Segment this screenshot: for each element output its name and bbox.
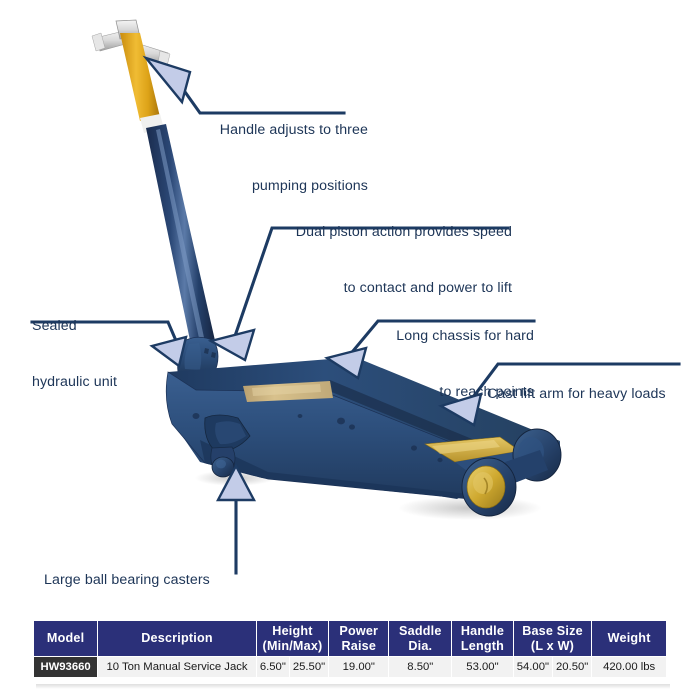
table-header: Model Description Height (Min/Max) Power…: [34, 621, 667, 657]
cell-description: 10 Ton Manual Service Jack: [98, 657, 257, 678]
cell-model: HW93660: [34, 657, 98, 678]
table-header-row-1: Model Description Height (Min/Max) Power…: [34, 621, 667, 657]
th-handle-length: Handle Length: [452, 621, 514, 657]
th-saddle-line1: Saddle: [391, 624, 449, 639]
th-handle-line1: Handle: [454, 624, 511, 639]
callout-liftarm-line1: Cast lift arm for heavy loads: [487, 385, 687, 404]
callout-handle-line1: Handle adjusts to three: [156, 121, 368, 140]
th-weight: Weight: [592, 621, 667, 657]
th-model: Model: [34, 621, 98, 657]
callout-cast-lift-arm: Cast lift arm for heavy loads: [487, 348, 687, 441]
th-base-line2: (L x W): [516, 639, 590, 654]
front-wheel-near: [462, 458, 516, 516]
table-row: HW93660 10 Ton Manual Service Jack 6.50"…: [34, 657, 667, 678]
th-description: Description: [98, 621, 257, 657]
cell-height-max: 25.50": [289, 657, 328, 678]
th-power-line2: Raise: [331, 639, 386, 654]
th-height: Height (Min/Max): [256, 621, 328, 657]
th-height-line1: Height: [259, 624, 326, 639]
th-saddle-dia: Saddle Dia.: [389, 621, 452, 657]
table-shadow: [36, 684, 670, 689]
cell-saddle-dia: 8.50": [389, 657, 452, 678]
callout-hydraulic-line2: hydraulic unit: [32, 373, 182, 392]
th-saddle-line2: Dia.: [391, 639, 449, 654]
callout-sealed-hydraulic: Sealed hydraulic unit: [32, 280, 182, 428]
cell-height-min: 6.50": [256, 657, 289, 678]
diagram-canvas: Handle adjusts to three pumping position…: [0, 0, 700, 700]
callout-casters-line1: Large ball bearing casters: [44, 571, 244, 590]
th-height-line2: (Min/Max): [259, 639, 326, 654]
th-base-line1: Base Size: [516, 624, 590, 639]
cell-weight: 420.00 lbs: [592, 657, 667, 678]
handle-grip: [120, 33, 160, 121]
th-base-size: Base Size (L x W): [513, 621, 592, 657]
callout-hydraulic-line1: Sealed: [32, 317, 182, 336]
callout-piston-line1: Dual piston action provides speed: [244, 223, 512, 242]
th-power-raise: Power Raise: [329, 621, 389, 657]
cell-handle-length: 53.00": [452, 657, 514, 678]
cell-base-width: 20.50": [553, 657, 592, 678]
specification-table: Model Description Height (Min/Max) Power…: [33, 620, 667, 678]
table-body: HW93660 10 Ton Manual Service Jack 6.50"…: [34, 657, 667, 678]
th-power-line1: Power: [331, 624, 386, 639]
th-handle-line2: Length: [454, 639, 511, 654]
cell-power-raise: 19.00": [329, 657, 389, 678]
callout-chassis-line1: Long chassis for hard: [372, 327, 534, 346]
cell-base-length: 54.00": [513, 657, 552, 678]
